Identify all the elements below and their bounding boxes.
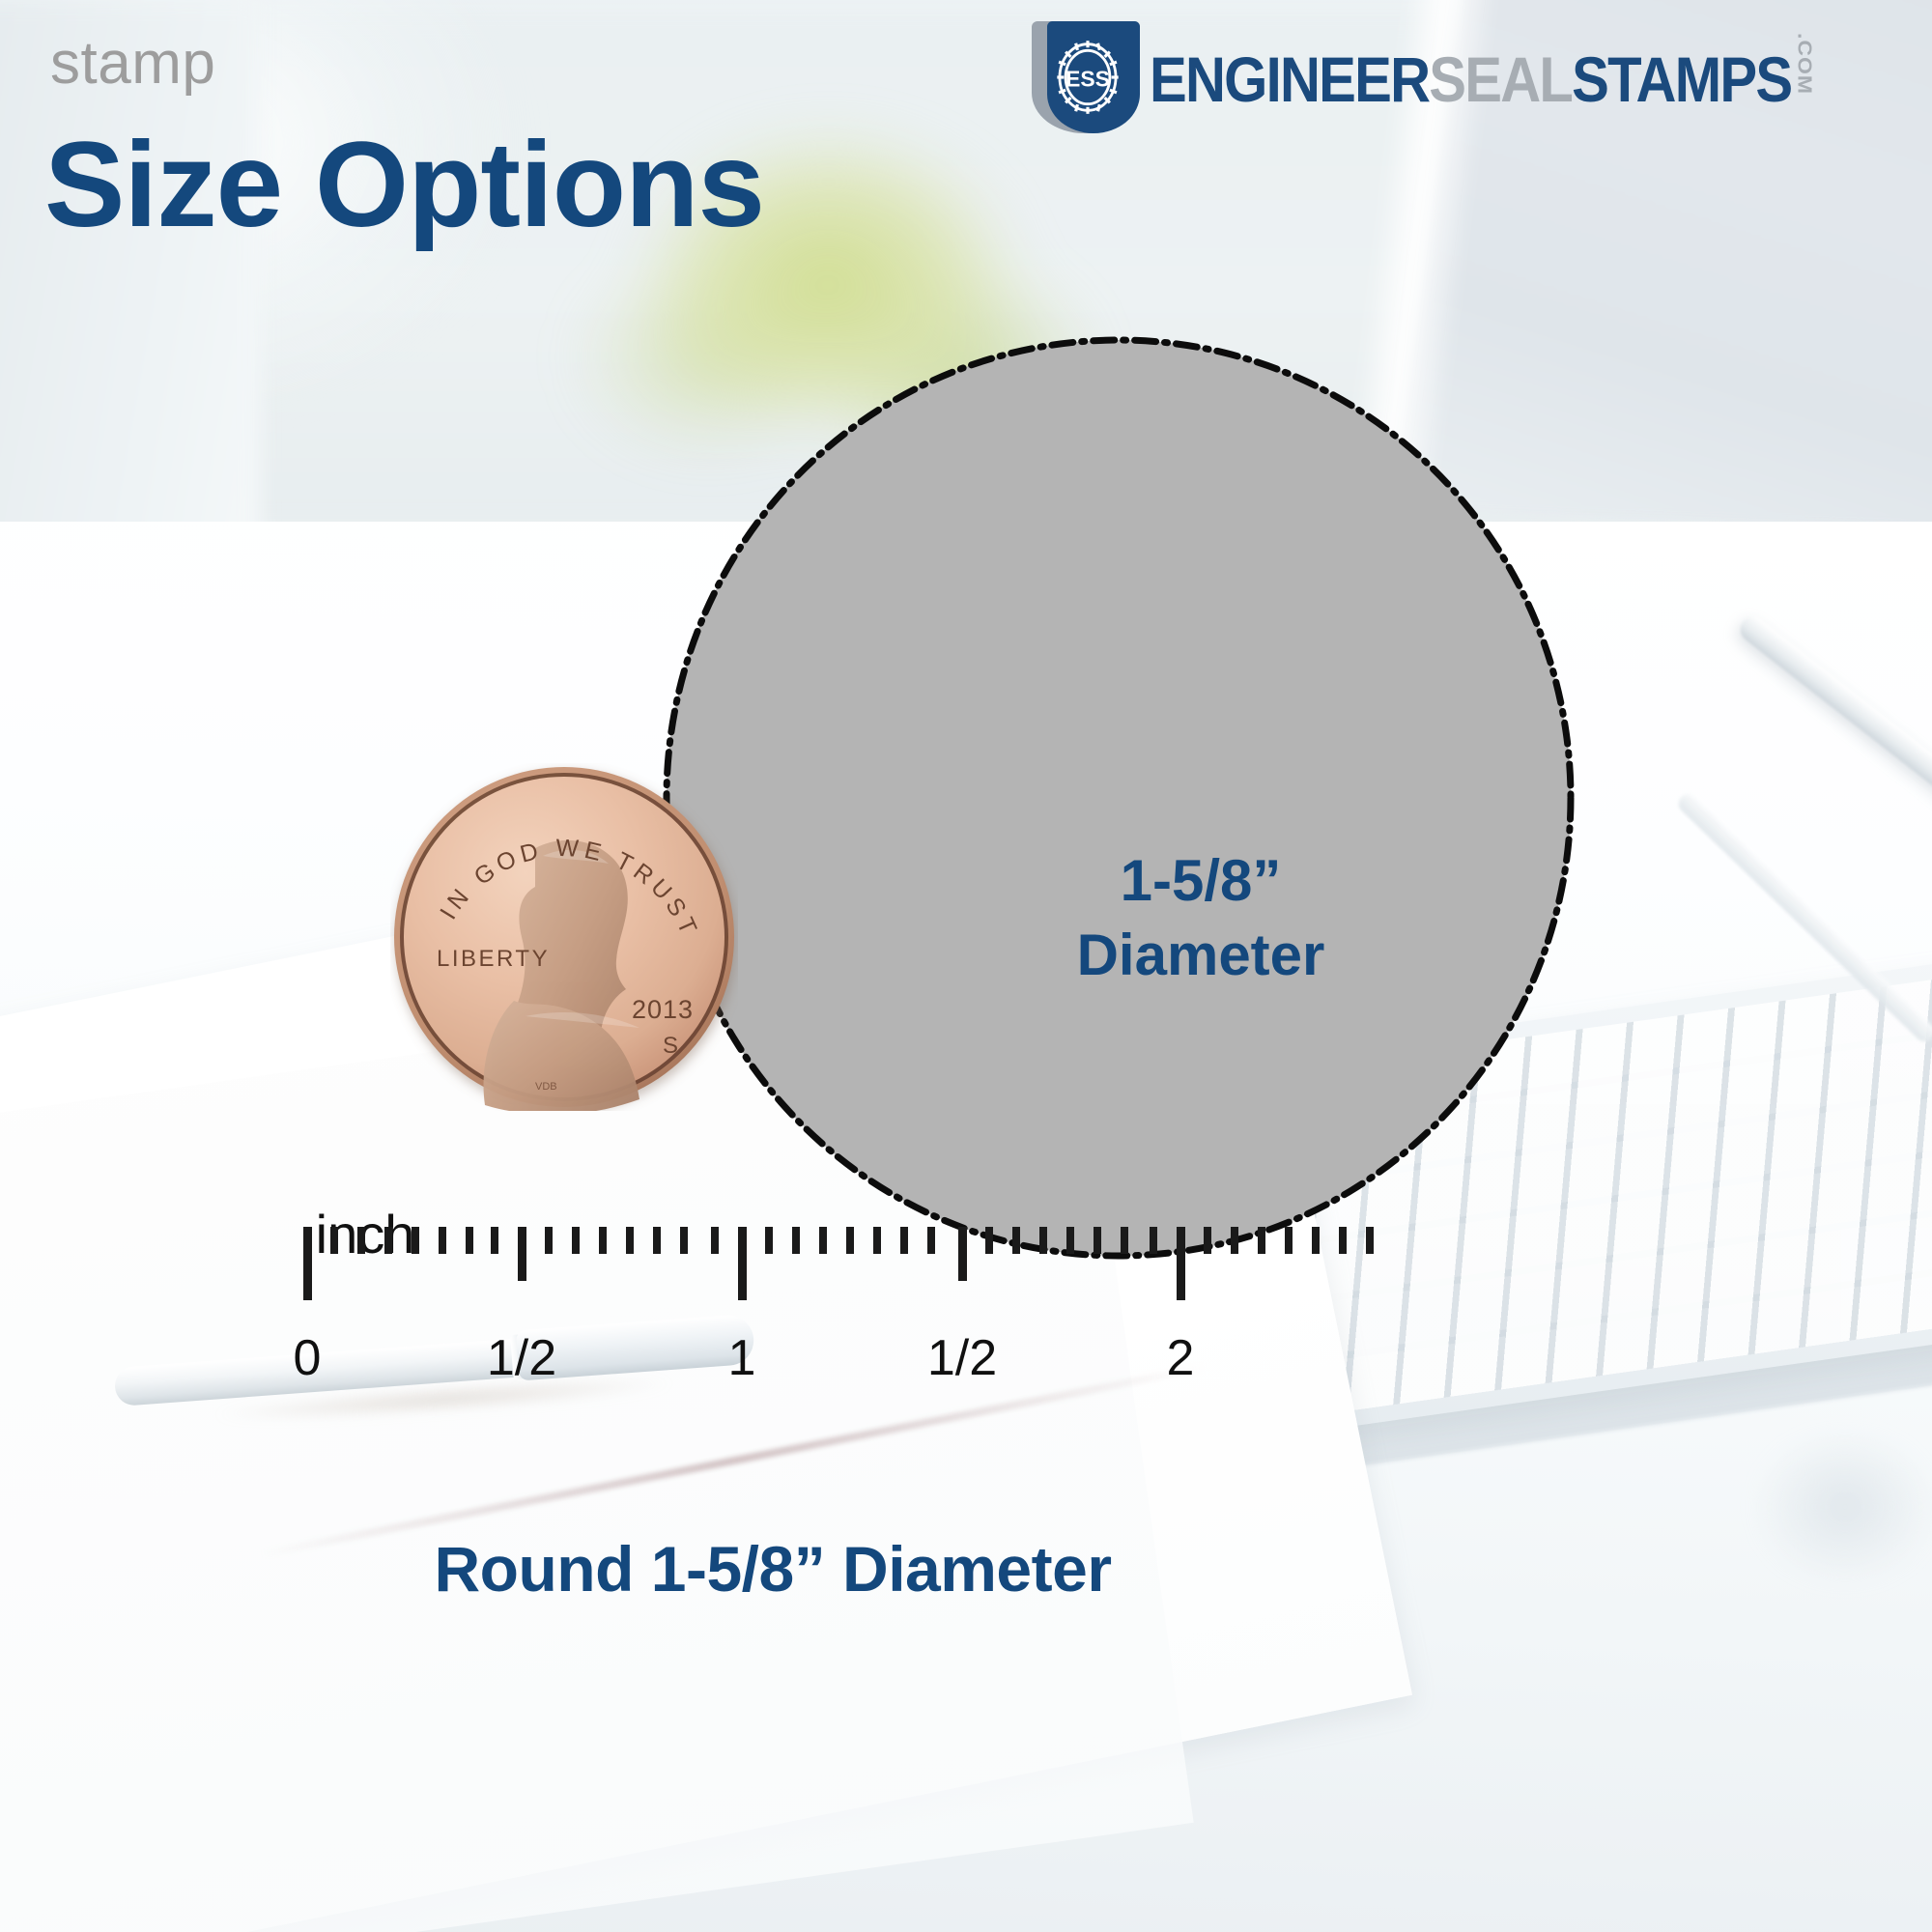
logo-badge-text: ESS: [1065, 67, 1110, 92]
ruler-tick: [545, 1227, 553, 1254]
ruler-tick: [1094, 1227, 1101, 1254]
logo-wordmark: ENGINEER SEAL STAMPS .COM: [1150, 39, 1816, 115]
ruler-tick: [1231, 1227, 1238, 1254]
ruler-tick: [1012, 1227, 1020, 1254]
coin-designer-initials: VDB: [535, 1081, 557, 1093]
ruler-tick: [738, 1227, 747, 1300]
penny-coin-image: IN GOD WE TRUST LIBERTY 2013 S VDB: [390, 763, 738, 1111]
ruler-tick: [765, 1227, 773, 1254]
ruler: 01/211/22: [0, 1227, 1932, 1478]
ruler-tick: [792, 1227, 800, 1254]
ruler-tick: [303, 1227, 312, 1300]
size-caption: Round 1-5/8” Diameter: [0, 1532, 1546, 1605]
ruler-tick: [1150, 1227, 1157, 1254]
coin-year: 2013: [632, 995, 694, 1024]
page-title: Size Options: [44, 124, 764, 247]
ruler-tick: [846, 1227, 854, 1254]
logo-word-engineer: ENGINEER: [1150, 43, 1429, 116]
ruler-tick: [1285, 1227, 1293, 1254]
logo-tld: .COM: [1793, 33, 1816, 95]
ess-gear-shield-logo-icon: ESS: [1032, 21, 1140, 133]
ruler-tick-label: 0: [294, 1329, 322, 1387]
ruler-tick: [599, 1227, 607, 1254]
ruler-tick: [900, 1227, 908, 1254]
ruler-tick: [1339, 1227, 1347, 1254]
stamp-size-unit: Diameter: [1077, 919, 1325, 993]
ruler-tick: [1039, 1227, 1047, 1254]
ruler-tick: [1066, 1227, 1074, 1254]
eyebrow-label: stamp: [50, 29, 215, 98]
gear-icon: ESS: [1045, 35, 1130, 120]
ruler-tick: [439, 1227, 446, 1254]
ruler-tick: [626, 1227, 634, 1254]
ruler-tick: [491, 1227, 498, 1254]
coin-mint-mark: S: [663, 1033, 678, 1059]
logo-word-stamps: STAMPS: [1572, 43, 1791, 116]
ruler-tick-label: 2: [1167, 1329, 1195, 1387]
ruler-tick: [330, 1227, 338, 1254]
ruler-tick-label: 1: [728, 1329, 756, 1387]
ruler-tick: [680, 1227, 688, 1254]
ruler-tick: [985, 1227, 993, 1254]
ruler-tick: [653, 1227, 661, 1254]
ruler-tick: [958, 1227, 967, 1281]
ruler-tick: [412, 1227, 419, 1254]
size-options-infographic: stamp Size Options: [0, 0, 1932, 1932]
stamp-size-label: 1-5/8” Diameter: [667, 340, 1571, 1256]
brand-logo[interactable]: ESS ENGINEER SEAL STAMPS .COM: [1032, 21, 1907, 133]
ruler-tick: [1177, 1227, 1185, 1300]
ruler-tick: [384, 1227, 392, 1254]
ruler-tick: [1312, 1227, 1320, 1254]
ruler-tick: [927, 1227, 935, 1254]
stamp-size-value: 1-5/8”: [1121, 844, 1282, 919]
ruler-tick-label: 1/2: [487, 1329, 556, 1387]
ruler-tick: [873, 1227, 881, 1254]
ruler-tick: [357, 1227, 365, 1254]
ruler-tick: [466, 1227, 473, 1254]
ruler-tick: [518, 1227, 526, 1281]
ruler-tick: [572, 1227, 580, 1254]
ruler-tick: [1258, 1227, 1265, 1254]
logo-word-seal: SEAL: [1429, 43, 1572, 116]
ruler-tick: [711, 1227, 719, 1254]
ruler-tick: [819, 1227, 827, 1254]
coin-liberty-text: LIBERTY: [437, 946, 550, 972]
ruler-tick: [1121, 1227, 1128, 1254]
ruler-tick-label: 1/2: [927, 1329, 997, 1387]
ruler-tick: [1204, 1227, 1211, 1254]
ruler-tick: [1366, 1227, 1374, 1254]
